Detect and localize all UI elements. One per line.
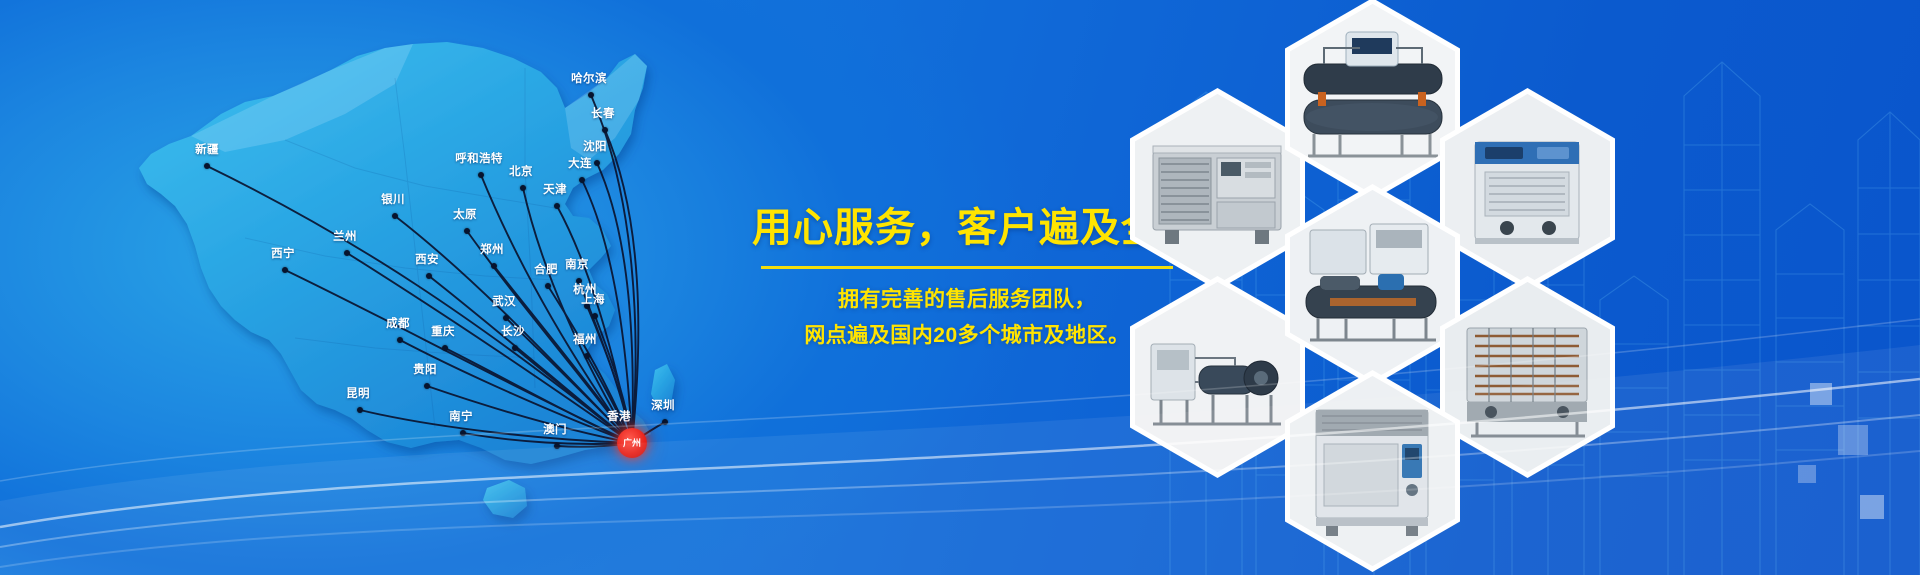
city-label: 南宁 bbox=[449, 408, 473, 424]
city-label: 新疆 bbox=[195, 141, 219, 157]
city-dot[interactable] bbox=[520, 185, 526, 191]
route-lines bbox=[95, 18, 735, 448]
city-dot[interactable] bbox=[282, 267, 288, 273]
city-label: 呼和浩特 bbox=[455, 150, 503, 166]
subtitle-line-2: 网点遍及国内20多个城市及地区。 bbox=[752, 318, 1182, 354]
city-label: 天津 bbox=[543, 181, 567, 197]
city-label: 长沙 bbox=[501, 323, 525, 339]
city-label: 银川 bbox=[381, 191, 405, 207]
hex-air-cooled-box-chiller[interactable] bbox=[1130, 88, 1305, 290]
headline-divider bbox=[761, 266, 1173, 269]
promo-banner: 新疆西宁兰州银川呼和浩特北京哈尔滨长春沈阳大连天津太原郑州西安合肥南京杭州上海武… bbox=[0, 0, 1920, 575]
city-dot[interactable] bbox=[545, 283, 551, 289]
city-dot[interactable] bbox=[554, 443, 560, 449]
city-label: 长春 bbox=[591, 105, 615, 121]
city-label: 哈尔滨 bbox=[571, 70, 607, 86]
city-dot[interactable] bbox=[579, 177, 585, 183]
city-label: 香港 bbox=[607, 408, 631, 424]
city-dot[interactable] bbox=[491, 263, 497, 269]
product-hex-collage bbox=[1140, 0, 1920, 575]
city-label: 北京 bbox=[509, 163, 533, 179]
hex-condenser-coil-unit[interactable] bbox=[1440, 276, 1615, 478]
hex-open-type-screw-unit[interactable] bbox=[1130, 276, 1305, 478]
banner-headline: 用心服务，客户遍及全国 bbox=[752, 205, 1182, 251]
city-dot[interactable] bbox=[584, 353, 590, 359]
city-dot[interactable] bbox=[426, 273, 432, 279]
city-label: 成都 bbox=[386, 315, 410, 331]
city-label: 贵阳 bbox=[413, 361, 437, 377]
hub-marker-guangzhou[interactable]: 广州 bbox=[617, 428, 647, 458]
city-label: 西安 bbox=[415, 251, 439, 267]
city-dot[interactable] bbox=[464, 228, 470, 234]
city-dot[interactable] bbox=[204, 163, 210, 169]
city-label: 深圳 bbox=[651, 397, 675, 413]
city-label: 合肥 bbox=[534, 261, 558, 277]
subtitle-line-1: 拥有完善的售后服务团队， bbox=[752, 282, 1182, 318]
city-label: 福州 bbox=[573, 331, 597, 347]
city-label: 兰州 bbox=[333, 228, 357, 244]
city-label: 重庆 bbox=[431, 323, 455, 339]
city-dot[interactable] bbox=[478, 172, 484, 178]
city-label: 郑州 bbox=[480, 241, 504, 257]
city-dot[interactable] bbox=[344, 250, 350, 256]
city-dot[interactable] bbox=[442, 345, 448, 351]
city-label: 武汉 bbox=[492, 293, 516, 309]
hex-water-cooled-screw-chiller[interactable] bbox=[1285, 0, 1460, 200]
city-dot[interactable] bbox=[594, 160, 600, 166]
city-dot[interactable] bbox=[392, 213, 398, 219]
city-dot[interactable] bbox=[602, 127, 608, 133]
city-dot[interactable] bbox=[503, 315, 509, 321]
city-label: 沈阳 bbox=[583, 138, 607, 154]
city-dot[interactable] bbox=[460, 430, 466, 436]
city-label: 西宁 bbox=[271, 245, 295, 261]
city-dot[interactable] bbox=[662, 419, 668, 425]
city-dot[interactable] bbox=[512, 345, 518, 351]
hex-low-temp-refrigeration-unit[interactable] bbox=[1285, 184, 1460, 386]
city-dot[interactable] bbox=[588, 92, 594, 98]
hex-portable-air-cooled-chiller[interactable] bbox=[1440, 88, 1615, 290]
city-dot[interactable] bbox=[592, 313, 598, 319]
city-label: 太原 bbox=[453, 206, 477, 222]
city-dot[interactable] bbox=[397, 337, 403, 343]
city-label: 澳门 bbox=[543, 421, 567, 437]
city-label: 大连 bbox=[568, 155, 592, 171]
city-label: 昆明 bbox=[346, 385, 370, 401]
china-service-network-map: 新疆西宁兰州银川呼和浩特北京哈尔滨长春沈阳大连天津太原郑州西安合肥南京杭州上海武… bbox=[95, 18, 735, 448]
city-dot[interactable] bbox=[424, 383, 430, 389]
banner-subtitle: 拥有完善的售后服务团队， 网点遍及国内20多个城市及地区。 bbox=[752, 282, 1182, 354]
city-dot[interactable] bbox=[357, 407, 363, 413]
city-label: 上海 bbox=[581, 291, 605, 307]
city-dot[interactable] bbox=[554, 203, 560, 209]
hex-industrial-water-chiller-cabinet[interactable] bbox=[1285, 370, 1460, 572]
banner-copy: 用心服务，客户遍及全国 拥有完善的售后服务团队， 网点遍及国内20多个城市及地区… bbox=[752, 205, 1182, 354]
city-label: 南京 bbox=[565, 256, 589, 272]
